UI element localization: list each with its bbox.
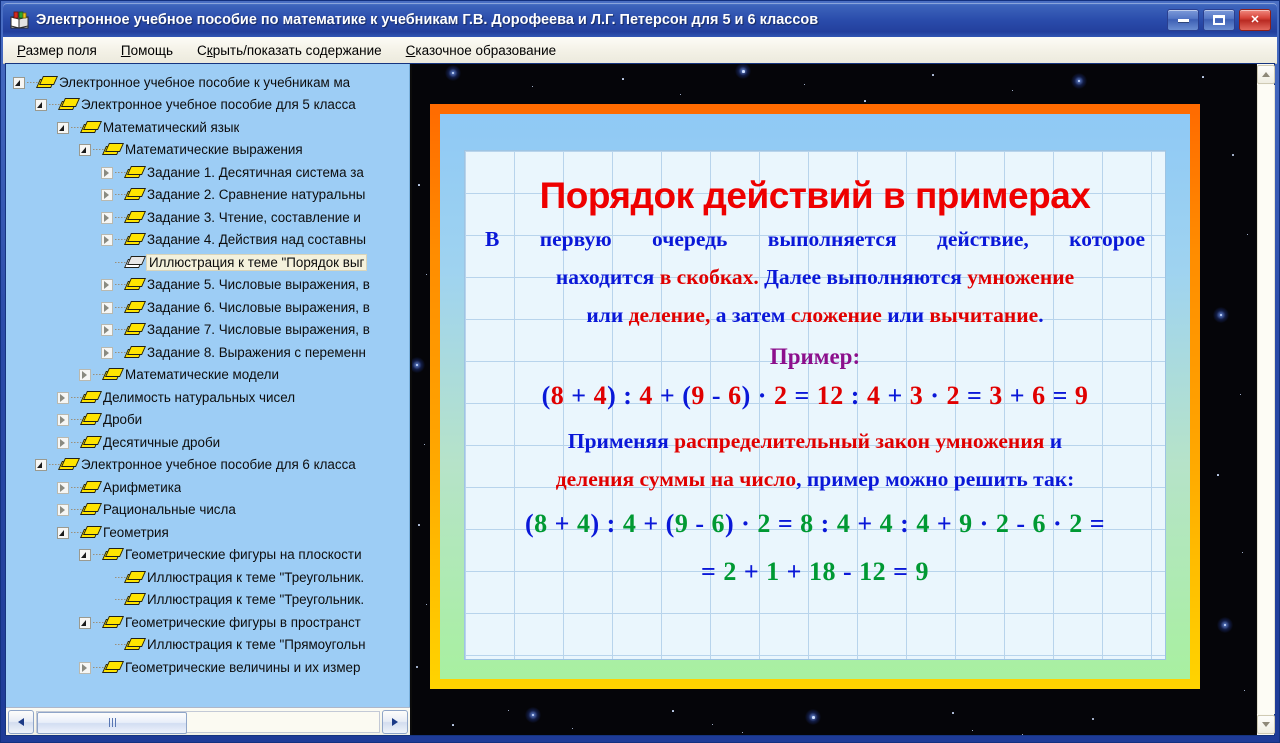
tree-node-label: Арифметика (103, 480, 181, 495)
tree-node-label: Геометрические величины и их измер (125, 660, 360, 675)
tree-connector (115, 194, 126, 196)
text-segment: . (1038, 303, 1043, 327)
slide-paragraph-1-line-3: или деление, а затем сложение или вычита… (479, 296, 1151, 334)
tree-collapse-toggle-icon[interactable] (56, 436, 69, 449)
formula-token: 2 (1069, 509, 1083, 538)
star-glow (412, 357, 425, 373)
star (1202, 76, 1204, 78)
scroll-down-button[interactable] (1257, 715, 1275, 734)
tree-connector (115, 239, 126, 241)
star (416, 666, 418, 668)
text-segment: умножение (967, 265, 1074, 289)
tree-connector (71, 486, 82, 488)
book-icon (82, 481, 98, 494)
tree-collapse-toggle-icon[interactable] (100, 166, 113, 179)
menu-item-help[interactable]: Помощь (111, 40, 183, 61)
formula-line-3: = 2 + 1 + 18 - 12 = 9 (479, 550, 1151, 594)
tree-connector (115, 171, 126, 173)
maximize-button[interactable] (1203, 9, 1235, 31)
tree-connector (93, 149, 104, 151)
star (1224, 624, 1226, 626)
formula-token: = (787, 381, 816, 410)
formula-token: - (1009, 509, 1032, 538)
tree-expand-toggle-icon[interactable] (78, 548, 91, 561)
menu-label: азмер поля (26, 43, 97, 58)
tree-connector (93, 374, 104, 376)
tree-node[interactable]: Делимость натуральных чисел (12, 386, 409, 409)
formula-token: 8 (551, 381, 565, 410)
formula-token: 3 (989, 381, 1003, 410)
tree-collapse-toggle-icon[interactable] (78, 368, 91, 381)
formula-token: · (734, 509, 757, 538)
tree-node[interactable]: Иллюстрация к теме "Прямоугольн (12, 634, 409, 657)
star (1242, 552, 1243, 553)
star (572, 728, 573, 729)
close-button[interactable]: ✕ (1239, 9, 1271, 31)
tree-leaf-spacer (100, 256, 113, 269)
star (932, 74, 934, 76)
menu-item-toggle-contents[interactable]: Скрыть/показать содержание (187, 40, 392, 61)
star (672, 710, 674, 712)
slide-paragraph-1-line-2: находится в скобках. Далее выполняются у… (479, 258, 1151, 296)
text-segment: или (882, 303, 930, 327)
formula-token: + (737, 557, 766, 586)
book-icon (126, 211, 142, 224)
formula-token: 4 (639, 381, 653, 410)
tree-node-label: Иллюстрация к теме "Порядок выг (147, 255, 366, 270)
tree-node[interactable]: Дроби (12, 409, 409, 432)
book-icon (60, 98, 76, 111)
tree-node[interactable]: Математический язык (12, 116, 409, 139)
formula-token: : (616, 381, 639, 410)
tree-collapse-toggle-icon[interactable] (56, 391, 69, 404)
formula-token: 6 (1032, 381, 1046, 410)
tree-collapse-toggle-icon[interactable] (100, 323, 113, 336)
star (1240, 394, 1241, 395)
tree-node-label: Иллюстрация к теме "Треугольник. (147, 570, 364, 585)
tree-expand-toggle-icon[interactable] (34, 98, 47, 111)
formula-token: - (688, 509, 711, 538)
menu-item-field-size[interactable]: Размер поля (7, 40, 107, 61)
formula-token: 4 (594, 381, 608, 410)
tree-scroll-area[interactable]: Электронное учебное пособие к учебникам … (6, 64, 410, 707)
formula-token: + (930, 509, 959, 538)
formula-token: 8 (800, 509, 814, 538)
minimize-icon (1178, 19, 1189, 22)
tree-collapse-toggle-icon[interactable] (56, 503, 69, 516)
formula-token: : (814, 509, 837, 538)
formula-token: = (886, 557, 915, 586)
book-icon (82, 526, 98, 539)
star (742, 70, 745, 73)
tree-collapse-toggle-icon[interactable] (56, 413, 69, 426)
formula-token: + (1003, 381, 1032, 410)
text-segment: Далее выполняются (759, 265, 967, 289)
client-area: Электронное учебное пособие к учебникам … (5, 63, 1275, 736)
star (418, 524, 420, 526)
tree-connector (115, 351, 126, 353)
slide-paragraph-1-line-1: В первую очередь выполняется действие, к… (479, 220, 1151, 258)
text-segment: Применяя (568, 429, 674, 453)
book-icon (126, 346, 142, 359)
text-segment: деления суммы на число (556, 467, 796, 491)
menu-item-fairytale-education[interactable]: Сказочное образование (396, 40, 567, 61)
star (418, 184, 420, 186)
book-icon (126, 188, 142, 201)
formula-token: 3 (910, 381, 924, 410)
tree-collapse-toggle-icon[interactable] (100, 233, 113, 246)
formula-token: ( (525, 509, 534, 538)
tree-node-label: Десятичные дроби (103, 435, 220, 450)
tree-node[interactable]: Электронное учебное пособие для 5 класса (12, 94, 409, 117)
tree-collapse-toggle-icon[interactable] (100, 346, 113, 359)
tree-connector (71, 509, 82, 511)
formula-token: : (844, 381, 867, 410)
arrow-up-icon (1262, 72, 1270, 77)
book-icon (82, 503, 98, 516)
formula-line-2: (8 + 4) : 4 + (9 - 6) · 2 = 8 : 4 + 4 : … (479, 502, 1151, 546)
formula-token: - (836, 557, 859, 586)
star (424, 444, 425, 445)
formula-token: ( (542, 381, 551, 410)
book-icon (82, 436, 98, 449)
arrow-right-icon (392, 718, 398, 726)
book-icon (38, 76, 54, 89)
tree-node-label: Задание 3. Чтение, составление и (147, 210, 361, 225)
star (952, 712, 954, 714)
tree-leaf-spacer (100, 593, 113, 606)
contents-tree-panel: Электронное учебное пособие к учебникам … (6, 64, 412, 735)
book-icon (104, 368, 120, 381)
tree-node[interactable]: Геометрические фигуры на плоскости (12, 544, 409, 567)
tree-connector (115, 306, 126, 308)
formula-token: 2 (723, 557, 737, 586)
open-book-icon (126, 256, 142, 269)
scroll-right-button[interactable] (382, 710, 408, 734)
menu-label: рыть/показать содержание (213, 43, 382, 58)
tree-node[interactable]: Задание 5. Числовые выражения, в (12, 274, 409, 297)
text-segment: или (586, 303, 628, 327)
tree-node[interactable]: Математические выражения (12, 139, 409, 162)
tree-connector (71, 531, 82, 533)
book-app-icon (10, 11, 29, 30)
tree-collapse-toggle-icon[interactable] (78, 661, 91, 674)
scroll-up-button[interactable] (1257, 65, 1275, 84)
text-segment: сложение (791, 303, 882, 327)
formula-token: ) (607, 381, 616, 410)
formula-token: ) (590, 509, 599, 538)
tree-node-label: Геометрия (103, 525, 169, 540)
star (426, 274, 427, 275)
slide-inner: Порядок действий в примерах В первую оче… (440, 114, 1190, 679)
tree-node[interactable]: Электронное учебное пособие к учебникам … (12, 71, 409, 94)
formula-token: : (893, 509, 916, 538)
book-icon (82, 121, 98, 134)
book-icon (126, 593, 142, 606)
tree-node-label: Рациональные числа (103, 502, 236, 517)
tree-collapse-toggle-icon[interactable] (100, 188, 113, 201)
book-icon (126, 233, 142, 246)
tree-node[interactable]: Задание 4. Действия над составны (12, 229, 409, 252)
tree-connector (71, 441, 82, 443)
formula-token: 6 (1033, 509, 1047, 538)
book-icon (104, 143, 120, 156)
formula-token: = (701, 557, 723, 586)
book-icon (82, 391, 98, 404)
example-label: Пример: (479, 344, 1151, 370)
tree-node-label: Задание 5. Числовые выражения, в (147, 277, 370, 292)
tree-node[interactable]: Математические модели (12, 364, 409, 387)
star (712, 724, 713, 725)
star (680, 94, 681, 95)
tree-node[interactable]: Геометрические фигуры в пространст (12, 611, 409, 634)
star (1092, 718, 1094, 720)
tree-node-label: Электронное учебное пособие для 6 класса (81, 457, 356, 472)
tree-node-label: Математические модели (125, 367, 279, 382)
tree-connector (27, 81, 38, 83)
star (972, 730, 973, 731)
star (1247, 234, 1248, 235)
minimize-button[interactable] (1167, 9, 1199, 31)
formula-token: · (973, 509, 996, 538)
tree-node-label: Иллюстрация к теме "Прямоугольн (147, 637, 366, 652)
arrow-left-icon (18, 718, 24, 726)
book-icon (82, 413, 98, 426)
slide-sheet: Порядок действий в примерах В первую оче… (464, 150, 1166, 660)
tree-leaf-spacer (100, 638, 113, 651)
tree-connector (93, 554, 104, 556)
text-segment: и (1044, 429, 1062, 453)
tree-leaf-spacer (100, 571, 113, 584)
tree-node[interactable]: Арифметика (12, 476, 409, 499)
tree-connector (115, 284, 126, 286)
star (1012, 90, 1013, 91)
formula-token: 4 (577, 509, 591, 538)
tree-node-label: Геометрические фигуры в пространст (125, 615, 361, 630)
tree-node-label: Задание 6. Числовые выражения, в (147, 300, 370, 315)
formula-token: 9 (959, 509, 973, 538)
formula-token: 18 (809, 557, 836, 586)
menu-prefix: С (197, 43, 207, 58)
book-icon (104, 548, 120, 561)
tree-node-label: Дроби (103, 412, 142, 427)
star (532, 86, 533, 87)
star (742, 732, 743, 733)
formula-token: 2 (946, 381, 960, 410)
star (508, 710, 509, 711)
formula-token: + (850, 509, 879, 538)
tree-collapse-toggle-icon[interactable] (100, 278, 113, 291)
tree-node-label: Математические выражения (125, 142, 303, 157)
formula-token: 2 (996, 509, 1010, 538)
tree-node[interactable]: Электронное учебное пособие для 6 класса (12, 454, 409, 477)
tree-collapse-toggle-icon[interactable] (56, 481, 69, 494)
star (1217, 474, 1219, 476)
menu-bar: Размер поля Помощь Скрыть/показать содер… (3, 37, 1277, 64)
scroll-left-button[interactable] (8, 710, 34, 734)
tree-node[interactable]: Задание 1. Десятичная система за (12, 161, 409, 184)
arrow-down-icon (1262, 722, 1270, 727)
menu-label: омощь (131, 43, 173, 58)
tree-connector (115, 599, 126, 601)
tree-expand-toggle-icon[interactable] (56, 526, 69, 539)
tree-connector (115, 216, 126, 218)
formula-token: · (923, 381, 946, 410)
formula-token: + (564, 381, 593, 410)
contents-tree: Электронное учебное пособие к учебникам … (6, 64, 409, 679)
star (1244, 690, 1245, 691)
tree-connector (115, 329, 126, 331)
book-icon (104, 661, 120, 674)
book-icon (126, 571, 142, 584)
window-title: Электронное учебное пособие по математик… (36, 12, 1167, 28)
formula-token: = (771, 509, 800, 538)
tree-node[interactable]: Десятичные дроби (12, 431, 409, 454)
formula-token: 1 (766, 557, 780, 586)
tree-node[interactable]: Задание 6. Числовые выражения, в (12, 296, 409, 319)
formula-token: · (751, 381, 774, 410)
book-icon (104, 616, 120, 629)
formula-token: 6 (728, 381, 742, 410)
tree-node-label: Задание 7. Числовые выражения, в (147, 322, 370, 337)
tree-node-label: Делимость натуральных чисел (103, 390, 295, 405)
tree-node[interactable]: Геометрия (12, 521, 409, 544)
formula-token: 9 (691, 381, 705, 410)
formula-token: 9 (1075, 381, 1089, 410)
star (426, 604, 427, 605)
slide-view-panel: Порядок действий в примерах В первую оче… (412, 64, 1256, 735)
star (864, 100, 866, 102)
tree-expand-toggle-icon[interactable] (78, 143, 91, 156)
formula-token: - (705, 381, 728, 410)
tree-connector (115, 644, 126, 646)
vertical-scroll-track[interactable] (1257, 85, 1275, 714)
tree-collapse-toggle-icon[interactable] (100, 301, 113, 314)
star (812, 716, 815, 719)
tree-expand-toggle-icon[interactable] (78, 616, 91, 629)
text-segment: деление, (629, 303, 711, 327)
text-segment: В первую очередь выполняется действие, к… (485, 227, 1145, 251)
window-controls: ✕ (1167, 9, 1271, 31)
tree-node[interactable]: Иллюстрация к теме "Порядок выг (12, 251, 409, 274)
formula-token: · (1046, 509, 1069, 538)
tree-connector (71, 396, 82, 398)
formula-token: 2 (774, 381, 788, 410)
tree-node[interactable]: Задание 3. Чтение, составление и (12, 206, 409, 229)
tree-node-label: Иллюстрация к теме "Треугольник. (147, 592, 364, 607)
text-segment: вычитание (929, 303, 1038, 327)
scroll-track[interactable] (36, 711, 380, 733)
tree-node[interactable]: Иллюстрация к теме "Треугольник. (12, 566, 409, 589)
formula-token: = (1083, 509, 1105, 538)
menu-label: казочное образование (415, 43, 556, 58)
application-window: Электронное учебное пособие по математик… (0, 0, 1280, 743)
book-icon (126, 323, 142, 336)
slide-title: Порядок действий в примерах (479, 177, 1151, 216)
formula-line-1: (8 + 4) : 4 + (9 - 6) · 2 = 12 : 4 + 3 ·… (479, 374, 1151, 418)
tree-connector (115, 261, 126, 263)
tree-connector (49, 104, 60, 106)
star (804, 84, 805, 85)
star (1022, 734, 1023, 735)
tree-node-label: Задание 2. Сравнение натуральны (147, 187, 365, 202)
book-icon (126, 278, 142, 291)
formula-token: + (780, 557, 809, 586)
tree-connector (115, 576, 126, 578)
tree-horizontal-scrollbar[interactable] (6, 707, 410, 735)
formula-token: 4 (880, 509, 894, 538)
formula-token: ) (742, 381, 751, 410)
book-icon (126, 638, 142, 651)
star (452, 724, 454, 726)
tree-node-label: Математический язык (103, 120, 239, 135)
tree-node[interactable]: Задание 2. Сравнение натуральны (12, 184, 409, 207)
text-segment: , пример можно решить так: (796, 467, 1074, 491)
scroll-thumb[interactable] (37, 712, 187, 734)
tree-expand-toggle-icon[interactable] (34, 458, 47, 471)
tree-connector (93, 666, 104, 668)
tree-collapse-toggle-icon[interactable] (100, 211, 113, 224)
formula-token: 4 (916, 509, 930, 538)
tree-node[interactable]: Задание 7. Числовые выражения, в (12, 319, 409, 342)
formula-token: 2 (757, 509, 771, 538)
menu-mnemonic: Р (17, 43, 26, 58)
formula-token: = (1046, 381, 1075, 410)
formula-token: 12 (817, 381, 844, 410)
tree-expand-toggle-icon[interactable] (56, 121, 69, 134)
tree-node-label: Электронное учебное пособие для 5 класса (81, 97, 356, 112)
tree-node-label: Геометрические фигуры на плоскости (125, 547, 362, 562)
formula-token: 9 (915, 557, 929, 586)
slide-paragraph-2-line-2: деления суммы на число, пример можно реш… (479, 460, 1151, 498)
tree-node[interactable]: Иллюстрация к теме "Треугольник. (12, 589, 409, 612)
tree-node[interactable]: Задание 8. Выражения с переменн (12, 341, 409, 364)
content-vertical-scrollbar[interactable] (1256, 64, 1274, 735)
tree-expand-toggle-icon[interactable] (12, 76, 25, 89)
formula-token: + (548, 509, 577, 538)
text-segment: а затем (710, 303, 790, 327)
tree-node-label: Задание 8. Выражения с переменн (147, 345, 366, 360)
tree-connector (71, 126, 82, 128)
slide-frame: Порядок действий в примерах В первую оче… (430, 104, 1200, 689)
title-bar: Электронное учебное пособие по математик… (3, 3, 1277, 37)
book-icon (126, 166, 142, 179)
formula-token: ) (725, 509, 734, 538)
tree-connector (49, 464, 60, 466)
tree-node[interactable]: Рациональные числа (12, 499, 409, 522)
tree-connector (93, 621, 104, 623)
formula-token: 4 (623, 509, 637, 538)
formula-token: 4 (867, 381, 881, 410)
close-icon: ✕ (1240, 10, 1270, 30)
formula-token: = (960, 381, 989, 410)
slide-paragraph-2-line-1: Применяя распределительный закон умножен… (479, 422, 1151, 460)
tree-node[interactable]: Геометрические величины и их измер (12, 656, 409, 679)
star (1232, 154, 1234, 156)
formula-token: 8 (534, 509, 548, 538)
formula-token: + (636, 509, 665, 538)
formula-token: : (600, 509, 623, 538)
tree-node-label: Электронное учебное пособие к учебникам … (59, 75, 350, 90)
menu-mnemonic: С (406, 43, 416, 58)
formula-token: + (653, 381, 682, 410)
grip-icon (109, 718, 116, 727)
maximize-icon (1213, 15, 1225, 25)
tree-node-label: Задание 1. Десятичная система за (147, 165, 364, 180)
formula-token: 12 (859, 557, 886, 586)
tree-connector (71, 419, 82, 421)
book-icon (60, 458, 76, 471)
